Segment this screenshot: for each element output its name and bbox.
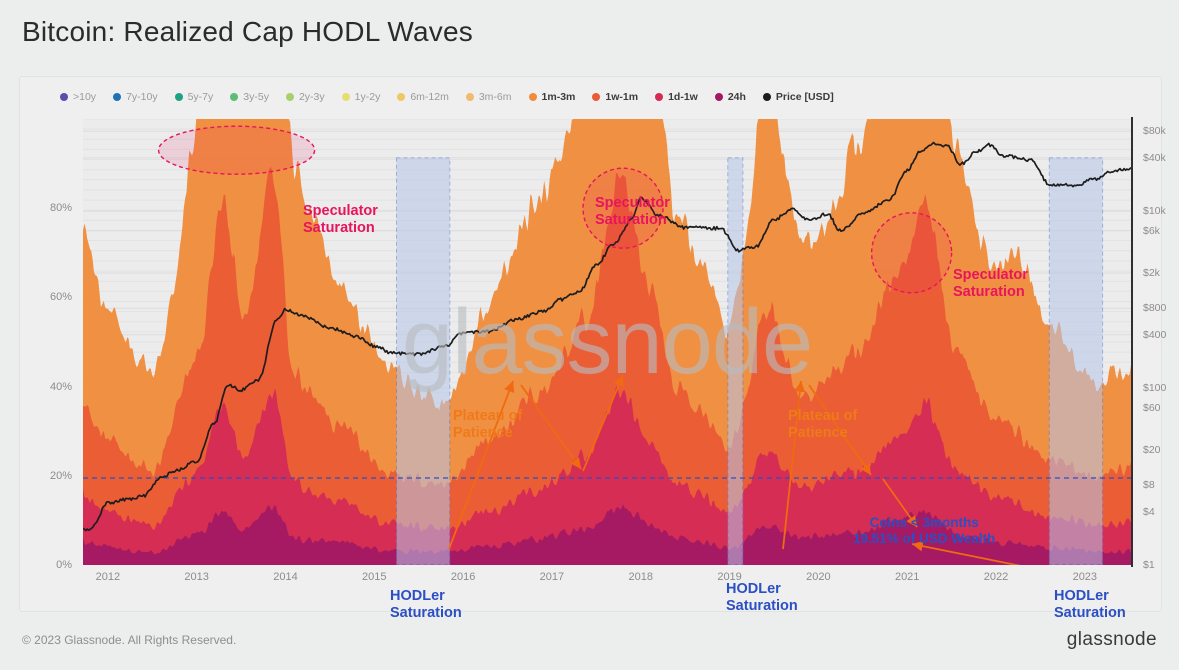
x-tick-year: 2016 bbox=[451, 571, 475, 583]
legend-item-7y-10y[interactable]: 7y-10y bbox=[113, 91, 158, 103]
legend-item-3m-6m[interactable]: 3m-6m bbox=[466, 91, 512, 103]
legend-item-24h[interactable]: 24h bbox=[715, 91, 746, 103]
hodl-waves-plot bbox=[83, 119, 1131, 565]
legend-swatch-icon bbox=[529, 93, 537, 101]
annotation-hodl-3: HODLer Saturation bbox=[1054, 588, 1126, 622]
y-tick-price: $40k bbox=[1143, 152, 1166, 164]
annotation-plateau-2: Plateau of Patience bbox=[788, 408, 857, 442]
annotation-hodl-2: HODLer Saturation bbox=[726, 581, 798, 615]
legend-item-1d-1w[interactable]: 1d-1w bbox=[655, 91, 698, 103]
page-title: Bitcoin: Realized Cap HODL Waves bbox=[22, 16, 473, 48]
right-axis-spine bbox=[1131, 117, 1133, 567]
x-tick-year: 2018 bbox=[628, 571, 652, 583]
legend-swatch-icon bbox=[763, 93, 771, 101]
y-tick-price: $80k bbox=[1143, 125, 1166, 137]
plot-area[interactable]: glassnode bbox=[83, 119, 1131, 565]
legend-swatch-icon bbox=[60, 93, 68, 101]
y-tick-price: $800 bbox=[1143, 302, 1166, 314]
y-tick-price: $400 bbox=[1143, 329, 1166, 341]
legend-swatch-icon bbox=[286, 93, 294, 101]
legend-swatch-icon bbox=[230, 93, 238, 101]
legend-label: 6m-12m bbox=[410, 91, 449, 103]
chart-legend[interactable]: >10y7y-10y5y-7y3y-5y2y-3y1y-2y6m-12m3m-6… bbox=[60, 89, 834, 105]
x-tick-year: 2020 bbox=[806, 571, 830, 583]
annotation-plateau-1: Plateau of Patience bbox=[453, 408, 522, 442]
legend-item-6m-12m[interactable]: 6m-12m bbox=[397, 91, 449, 103]
legend-swatch-icon bbox=[592, 93, 600, 101]
x-tick-year: 2017 bbox=[540, 571, 564, 583]
annotation-coins: Coins < 3months 19.51% of USD Wealth bbox=[853, 515, 995, 547]
legend-item-1m-3m[interactable]: 1m-3m bbox=[529, 91, 576, 103]
legend-swatch-icon bbox=[715, 93, 723, 101]
legend-item-1y-2y[interactable]: 1y-2y bbox=[342, 91, 381, 103]
legend-item-price-usd[interactable]: Price [USD] bbox=[763, 91, 834, 103]
legend-item-5y-7y[interactable]: 5y-7y bbox=[175, 91, 214, 103]
shaded-band bbox=[397, 158, 450, 565]
y-tick-price: $20 bbox=[1143, 444, 1161, 456]
y-tick-price: $2k bbox=[1143, 267, 1160, 279]
legend-swatch-icon bbox=[342, 93, 350, 101]
y-tick-percent: 80% bbox=[50, 202, 72, 214]
glassnode-logo: glassnode bbox=[1067, 629, 1157, 651]
legend-item-10y[interactable]: >10y bbox=[60, 91, 96, 103]
chart-card: >10y7y-10y5y-7y3y-5y2y-3y1y-2y6m-12m3m-6… bbox=[19, 76, 1162, 612]
x-tick-year: 2014 bbox=[273, 571, 297, 583]
legend-label: >10y bbox=[73, 91, 96, 103]
shaded-band bbox=[1049, 158, 1102, 565]
legend-label: 7y-10y bbox=[126, 91, 158, 103]
legend-label: 1y-2y bbox=[355, 91, 381, 103]
legend-label: 1w-1m bbox=[605, 91, 638, 103]
y-tick-percent: 20% bbox=[50, 470, 72, 482]
legend-swatch-icon bbox=[175, 93, 183, 101]
x-tick-year: 2013 bbox=[184, 571, 208, 583]
legend-label: 1m-3m bbox=[542, 91, 576, 103]
y-tick-price: $10k bbox=[1143, 205, 1166, 217]
legend-label: 1d-1w bbox=[668, 91, 698, 103]
x-tick-year: 2022 bbox=[984, 571, 1008, 583]
copyright-text: © 2023 Glassnode. All Rights Reserved. bbox=[22, 633, 236, 647]
y-tick-price: $8 bbox=[1143, 479, 1155, 491]
legend-label: 3m-6m bbox=[479, 91, 512, 103]
legend-item-3y-5y[interactable]: 3y-5y bbox=[230, 91, 269, 103]
y-axis-right-price: $1$4$8$20$60$100$400$800$2k$6k$10k$40k$8… bbox=[1137, 119, 1179, 565]
y-tick-percent: 0% bbox=[56, 559, 72, 571]
annotation-spec-2: Speculator Saturation bbox=[595, 195, 670, 229]
y-tick-percent: 60% bbox=[50, 291, 72, 303]
legend-item-2y-3y[interactable]: 2y-3y bbox=[286, 91, 325, 103]
x-tick-year: 2021 bbox=[895, 571, 919, 583]
legend-swatch-icon bbox=[466, 93, 474, 101]
legend-item-1w-1m[interactable]: 1w-1m bbox=[592, 91, 638, 103]
legend-label: 3y-5y bbox=[243, 91, 269, 103]
highlight-ellipse bbox=[159, 126, 315, 174]
x-tick-year: 2023 bbox=[1073, 571, 1097, 583]
x-axis-years: 2012201320142015201620172018201920202021… bbox=[83, 569, 1131, 591]
y-tick-price: $60 bbox=[1143, 402, 1161, 414]
y-tick-price: $100 bbox=[1143, 382, 1166, 394]
y-tick-price: $1 bbox=[1143, 559, 1155, 571]
annotation-spec-3: Speculator Saturation bbox=[953, 267, 1028, 301]
y-axis-left-percent: 0%20%40%60%80% bbox=[20, 119, 80, 565]
legend-label: Price [USD] bbox=[776, 91, 834, 103]
annotation-spec-1: Speculator Saturation bbox=[303, 203, 378, 237]
y-tick-price: $4 bbox=[1143, 506, 1155, 518]
highlight-ellipse bbox=[872, 213, 952, 293]
x-tick-year: 2012 bbox=[96, 571, 120, 583]
annotation-hodl-1: HODLer Saturation bbox=[390, 588, 462, 622]
y-tick-percent: 40% bbox=[50, 381, 72, 393]
shaded-band bbox=[728, 158, 743, 565]
legend-label: 5y-7y bbox=[188, 91, 214, 103]
legend-label: 24h bbox=[728, 91, 746, 103]
legend-label: 2y-3y bbox=[299, 91, 325, 103]
legend-swatch-icon bbox=[113, 93, 121, 101]
y-tick-price: $6k bbox=[1143, 225, 1160, 237]
legend-swatch-icon bbox=[397, 93, 405, 101]
legend-swatch-icon bbox=[655, 93, 663, 101]
x-tick-year: 2015 bbox=[362, 571, 386, 583]
chart-page: Bitcoin: Realized Cap HODL Waves >10y7y-… bbox=[0, 0, 1179, 670]
